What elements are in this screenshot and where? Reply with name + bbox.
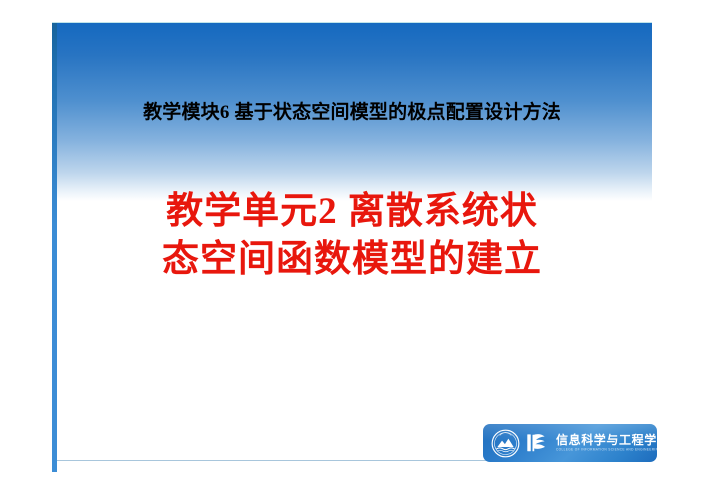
university-seal-icon: [491, 429, 520, 458]
college-logo-banner: 信息科学与工程学院 COLLEGE OF INFORMATION SCIENCE…: [483, 424, 657, 462]
college-name-en: COLLEGE OF INFORMATION SCIENCE AND ENGIN…: [556, 448, 657, 452]
footer-divider: [57, 460, 487, 461]
college-name-cn: 信息科学与工程学院: [556, 434, 657, 446]
ise-monogram-icon: [526, 431, 552, 455]
module-heading: 教学模块6 基于状态空间模型的极点配置设计方法: [52, 100, 652, 126]
page-title-line-1: 教学单元2 离散系统状: [52, 188, 652, 236]
slide-canvas: 教学模块6 基于状态空间模型的极点配置设计方法 教学单元2 离散系统状 态空间函…: [0, 0, 702, 496]
college-logo-text: 信息科学与工程学院 COLLEGE OF INFORMATION SCIENCE…: [556, 434, 657, 451]
page-title-line-2: 态空间函数模型的建立: [52, 236, 652, 284]
page-title: 教学单元2 离散系统状 态空间函数模型的建立: [52, 188, 652, 284]
